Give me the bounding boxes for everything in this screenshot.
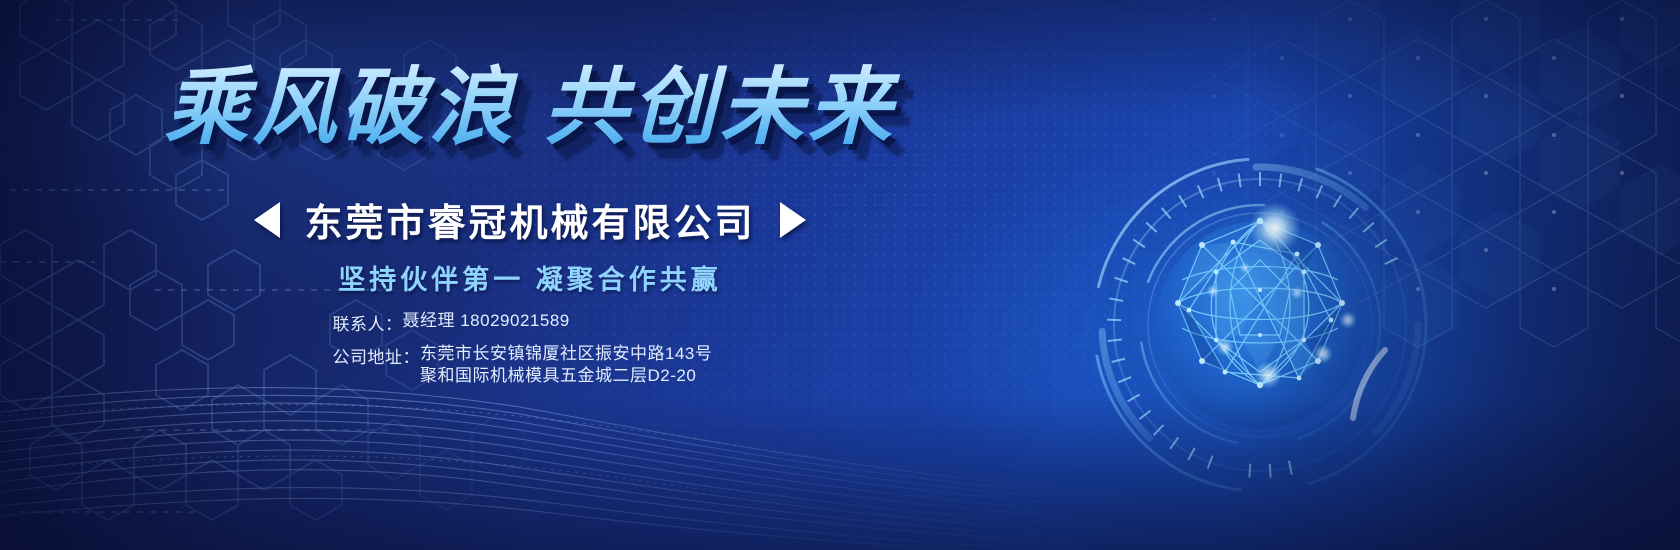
company-name-row: 东莞市睿冠机械有限公司: [0, 192, 1060, 247]
contact-info-block: 联系人： 聂经理 18029021589 公司地址： 东莞市长安镇锦厦社区振安中…: [0, 310, 1060, 388]
triangle-right-icon: [780, 202, 806, 238]
contact-person-label: 联系人：: [333, 310, 403, 335]
banner-text-content: 乘风破浪 共创未来 东莞市睿冠机械有限公司 坚持伙伴第一 凝聚合作共赢 联系人：…: [0, 0, 1060, 550]
promo-banner: 乘风破浪 共创未来 东莞市睿冠机械有限公司 坚持伙伴第一 凝聚合作共赢 联系人：…: [0, 0, 1680, 550]
contact-person-row: 联系人： 聂经理 18029021589: [333, 310, 728, 335]
headline-slogan: 乘风破浪 共创未来: [0, 62, 1060, 153]
contact-person-value: 聂经理 18029021589: [403, 310, 728, 332]
company-address-label: 公司地址：: [333, 343, 421, 368]
company-address-row: 公司地址： 东莞市长安镇锦厦社区振安中路143号聚和国际机械模具五金城二层D2-…: [333, 343, 728, 388]
tech-globe-graphic: [1085, 150, 1435, 500]
triangle-left-icon: [254, 202, 280, 238]
company-name: 东莞市睿冠机械有限公司: [304, 192, 755, 247]
secondary-slogan: 坚持伙伴第一 凝聚合作共赢: [0, 258, 1060, 297]
company-address-value: 东莞市长安镇锦厦社区振安中路143号聚和国际机械模具五金城二层D2-20: [420, 343, 728, 388]
